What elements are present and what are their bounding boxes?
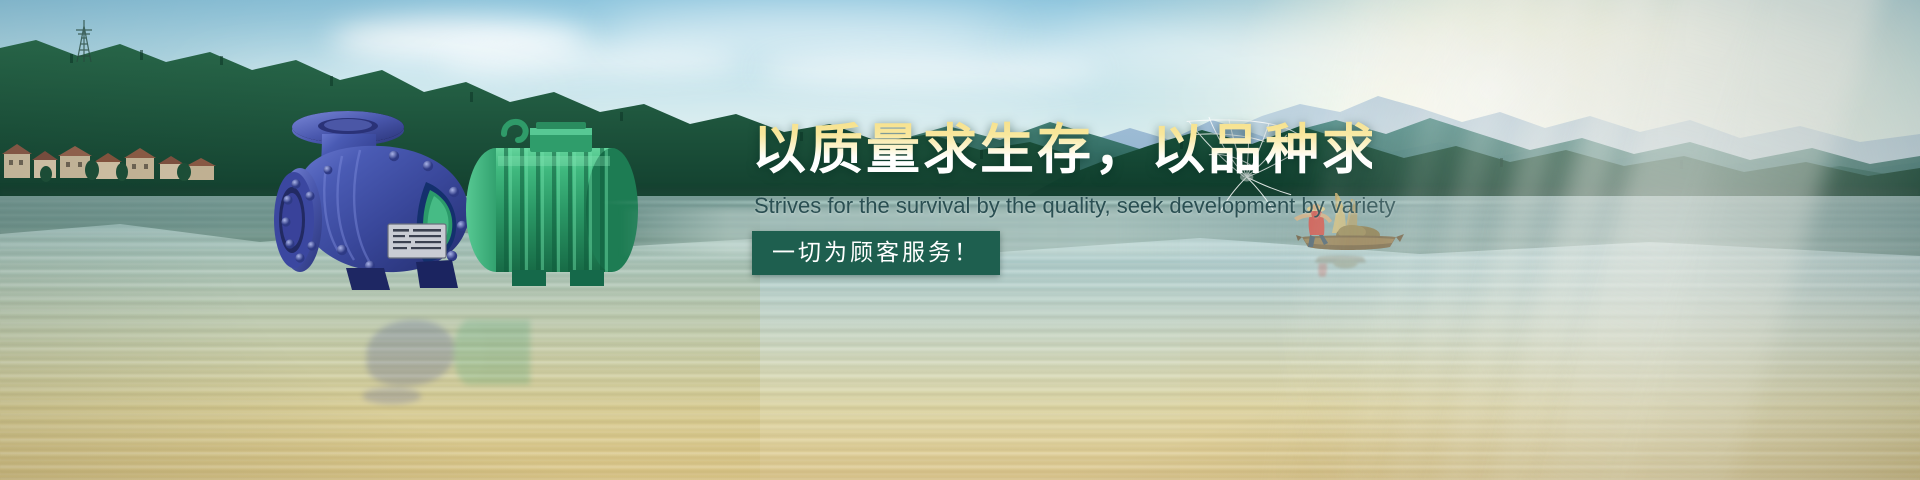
promotional-banner: 以质量求生存，以品种求发展 Strives for the survival b… <box>0 0 1920 480</box>
village-houses <box>0 126 230 196</box>
banner-slogan-badge: 一切为顾客服务！ <box>752 231 1000 275</box>
motor-foot <box>570 270 604 286</box>
motor-terminal-box <box>530 122 592 152</box>
pump-foot <box>346 268 390 290</box>
banner-subtitle: Strives for the survival by the quality,… <box>754 191 1372 221</box>
pump-reflection <box>230 300 650 410</box>
banner-headline: 以质量求生存，以品种求发展 <box>752 118 1372 182</box>
pump-foot <box>416 260 458 288</box>
banner-text-block: 以质量求生存，以品种求发展 Strives for the survival b… <box>752 118 1372 275</box>
pump-discharge-flange <box>274 168 322 272</box>
centrifugal-pump-product <box>230 100 650 310</box>
transmission-tower <box>72 18 96 62</box>
motor-foot <box>512 270 546 286</box>
pump-nameplate <box>388 224 446 258</box>
